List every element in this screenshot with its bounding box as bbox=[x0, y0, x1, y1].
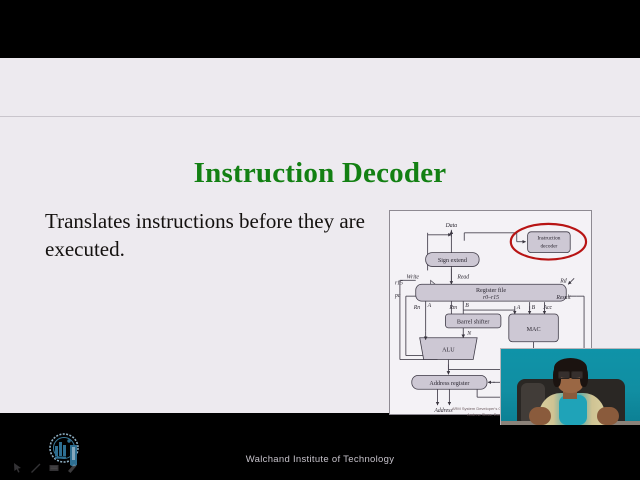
svg-text:MAC: MAC bbox=[527, 327, 541, 333]
svg-text:Instruction: Instruction bbox=[537, 236, 560, 242]
page-title: Instruction Decoder bbox=[0, 157, 640, 190]
svg-text:Data: Data bbox=[445, 223, 458, 229]
glasses-icon bbox=[558, 371, 583, 377]
eraser-icon[interactable] bbox=[48, 462, 60, 474]
svg-text:A: A bbox=[516, 305, 521, 311]
presenter-arm-right bbox=[597, 407, 619, 425]
svg-text:A: A bbox=[427, 303, 432, 309]
svg-text:r15: r15 bbox=[395, 280, 403, 286]
presenter-webcam-overlay[interactable] bbox=[500, 348, 640, 425]
pen-icon[interactable] bbox=[30, 462, 42, 474]
svg-text:B: B bbox=[465, 303, 469, 309]
svg-text:Register file: Register file bbox=[476, 287, 506, 294]
pointer-icon[interactable] bbox=[12, 462, 24, 474]
svg-text:Rd: Rd bbox=[559, 278, 567, 284]
svg-text:B: B bbox=[532, 305, 536, 311]
video-frame: Instruction Decoder Translates instructi… bbox=[0, 0, 640, 480]
svg-text:Rm: Rm bbox=[448, 305, 457, 311]
svg-text:Rn: Rn bbox=[413, 305, 421, 311]
slide-top-edge bbox=[0, 116, 640, 117]
svg-text:Acc: Acc bbox=[542, 305, 552, 311]
svg-text:N: N bbox=[466, 331, 472, 337]
svg-text:decoder: decoder bbox=[540, 244, 557, 250]
svg-text:Sign extend: Sign extend bbox=[438, 258, 467, 264]
svg-text:r0–r15: r0–r15 bbox=[483, 295, 499, 301]
annotation-toolbar[interactable] bbox=[12, 460, 78, 476]
presenter-sari bbox=[559, 395, 587, 425]
svg-text:Read: Read bbox=[456, 274, 469, 280]
slide-footer: Walchand Institute of Technology bbox=[0, 454, 640, 465]
slide-body-text: Translates instructions before they are … bbox=[45, 208, 375, 263]
highlighter-icon[interactable] bbox=[66, 462, 78, 474]
svg-text:ALU: ALU bbox=[442, 348, 455, 354]
svg-text:Barrel shifter: Barrel shifter bbox=[457, 318, 489, 325]
svg-text:Address register: Address register bbox=[429, 381, 469, 387]
presenter-arm-left bbox=[529, 407, 551, 425]
svg-text:Write: Write bbox=[407, 274, 420, 280]
